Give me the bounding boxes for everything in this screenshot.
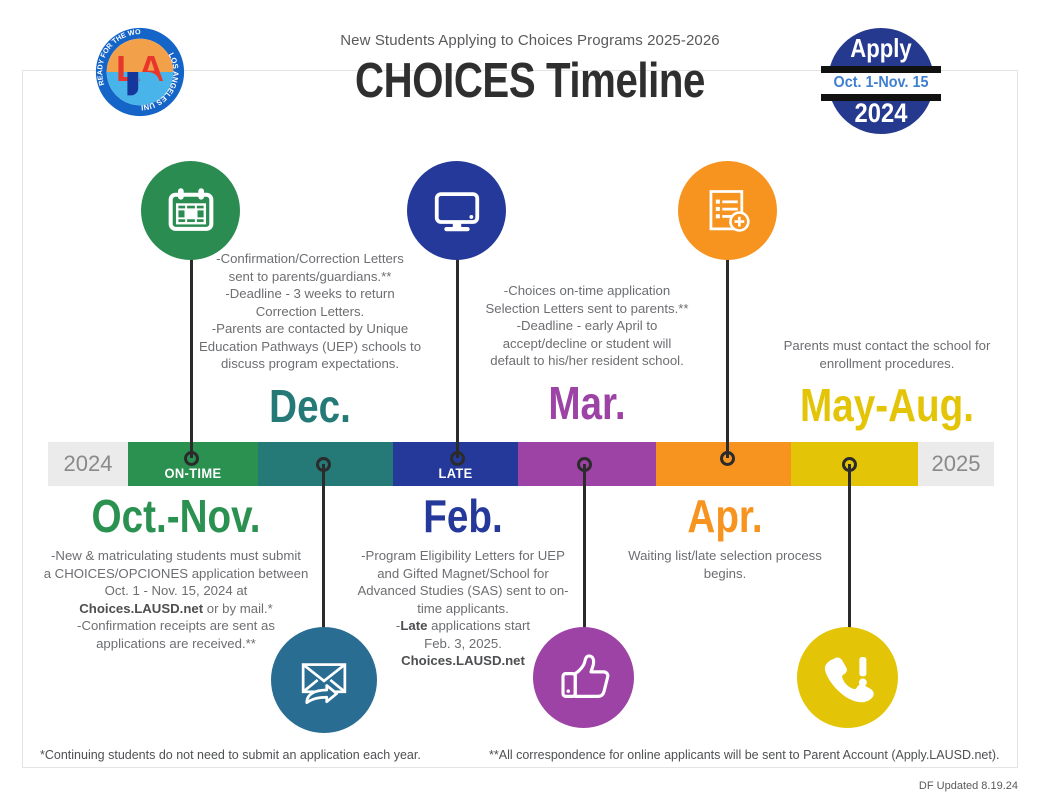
milestone-dec-month: Dec.	[216, 383, 404, 429]
milestone-apr: Apr. Waiting list/late selection process…	[612, 493, 838, 582]
feb-late-suffix: applications start	[427, 618, 530, 633]
timeline-segment-label: 2025	[918, 451, 994, 477]
apply-badge-year: 2024	[834, 98, 927, 129]
header-subtitle: New Students Applying to Choices Program…	[300, 32, 760, 49]
phone-alert-icon-circle	[797, 627, 898, 728]
apply-badge-bar-top	[821, 66, 941, 73]
oct-nov-site-suffix: or by mail.*	[203, 601, 273, 616]
calendar-icon	[165, 185, 217, 237]
monitor-icon	[430, 184, 484, 238]
connector-mar	[456, 244, 459, 458]
footnote-left: *Continuing students do not need to subm…	[40, 748, 421, 762]
milestone-may-aug-body: Parents must contact the school for enro…	[762, 337, 1012, 372]
milestone-apr-month: Apr.	[630, 493, 820, 539]
milestone-feb: Feb. -Program Eligibility Letters for UE…	[349, 493, 577, 670]
footnote-right: **All correspondence for online applican…	[489, 748, 999, 762]
calendar-icon-circle	[141, 161, 240, 260]
dot-dec	[184, 451, 199, 466]
milestone-oct-nov-body: -New & matriculating students must submi…	[42, 547, 310, 652]
connector-may-aug	[848, 464, 851, 654]
updated-stamp: DF Updated 8.19.24	[919, 780, 1018, 792]
dot-feb	[577, 457, 592, 472]
infographic-page: LA LOS ANGELES UNIFIED READY FOR THE WOR…	[0, 0, 1042, 806]
connector-feb	[583, 464, 586, 654]
document-add-icon	[702, 185, 754, 237]
milestone-mar-month: Mar.	[499, 380, 675, 426]
dot-apr	[720, 451, 735, 466]
feb-late-date: Feb. 3, 2025.	[349, 635, 577, 653]
monitor-icon-circle	[407, 161, 506, 260]
milestone-feb-body: -Program Eligibility Letters for UEP and…	[349, 547, 577, 670]
apply-badge-line1: Apply	[836, 33, 926, 64]
milestone-dec: -Confirmation/Correction Letters sent to…	[198, 250, 422, 429]
milestone-oct-nov-month: Oct.-Nov.	[63, 493, 288, 539]
milestone-feb-month: Feb.	[367, 493, 559, 539]
feb-late-word: Late	[400, 618, 427, 633]
connector-apr	[726, 244, 729, 458]
dot-oct-nov	[316, 457, 331, 472]
connector-oct-nov	[322, 464, 325, 654]
timeline-segment-label: ON-TIME	[165, 465, 222, 486]
dot-mar	[450, 451, 465, 466]
timeline-segment-year-end: 2025	[918, 442, 994, 486]
milestone-mar: -Choices on-time application Selection L…	[482, 282, 692, 426]
timeline-segment-label: 2024	[48, 451, 128, 477]
feb-site: Choices.LAUSD.net	[401, 653, 525, 668]
dot-may-aug	[842, 457, 857, 472]
milestone-apr-body: Waiting list/late selection process begi…	[612, 547, 838, 582]
envelope-forward-icon	[295, 651, 353, 709]
page-title: CHOICES Timeline	[341, 53, 718, 109]
milestone-dec-body: -Confirmation/Correction Letters sent to…	[198, 250, 422, 373]
timeline-segment-year-start: 2024	[48, 442, 128, 486]
lausd-logo: LA LOS ANGELES UNIFIED READY FOR THE WOR…	[95, 27, 185, 117]
apply-badge-dates: Oct. 1-Nov. 15	[825, 74, 937, 92]
connector-dec	[190, 244, 193, 458]
milestone-oct-nov: Oct.-Nov. -New & matriculating students …	[42, 493, 310, 652]
timeline-segment-label: LATE	[438, 465, 472, 486]
phone-alert-icon	[820, 650, 876, 706]
milestone-may-aug-month: May-Aug.	[782, 382, 992, 428]
apply-badge: Apply Oct. 1-Nov. 15 2024	[828, 28, 934, 134]
oct-nov-site: Choices.LAUSD.net	[79, 601, 203, 616]
milestone-mar-body: -Choices on-time application Selection L…	[482, 282, 692, 370]
document-add-icon-circle	[678, 161, 777, 260]
milestone-may-aug: Parents must contact the school for enro…	[762, 337, 1012, 428]
